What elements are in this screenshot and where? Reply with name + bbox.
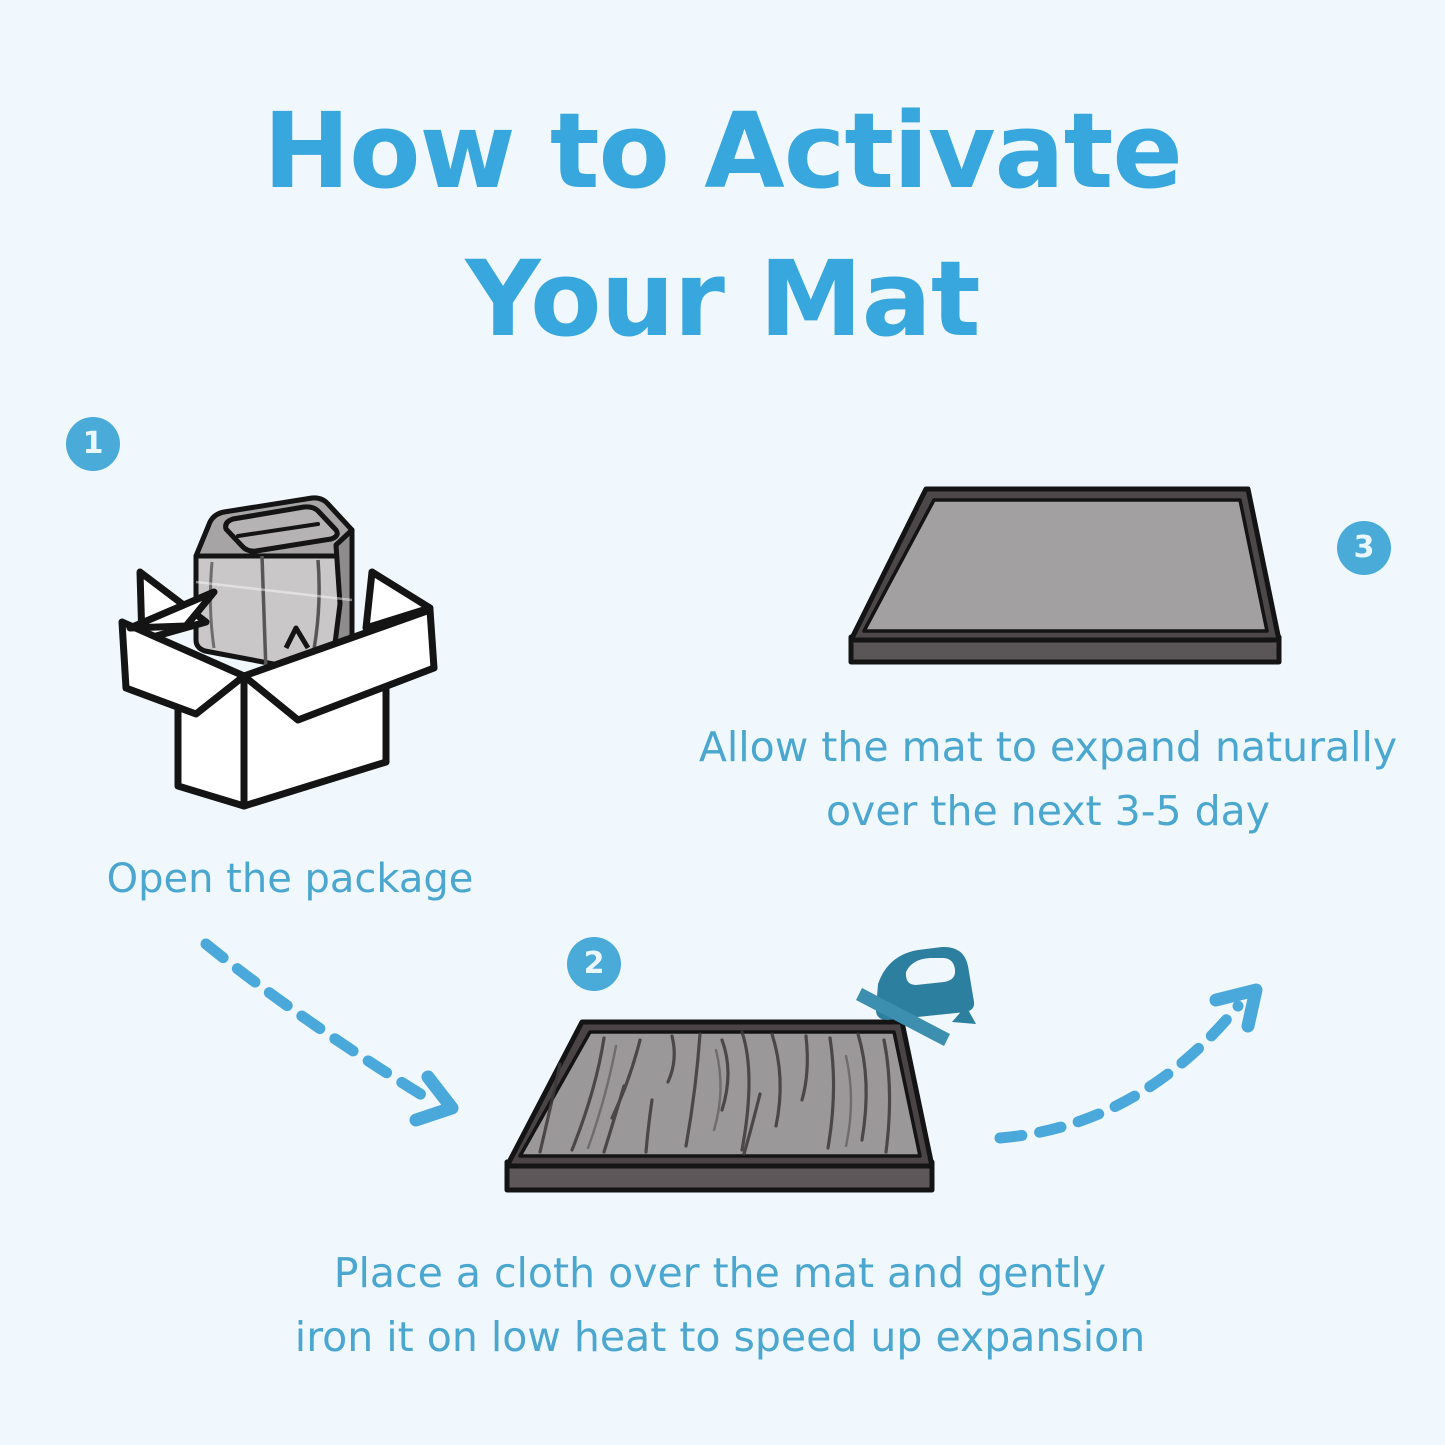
cloth-covered-mat-icon: [507, 1022, 932, 1190]
step-1-caption-line-1: Open the package: [40, 848, 540, 910]
step-badge-1[interactable]: 1: [66, 417, 120, 471]
step-3-caption-line-2: over the next 3-5 day: [672, 780, 1424, 844]
step-3-caption: Allow the mat to expand naturally over t…: [672, 716, 1424, 843]
dashed-curved-arrow-down-right-icon: [206, 944, 452, 1120]
step-1-caption: Open the package: [40, 848, 540, 910]
step-badge-3[interactable]: 3: [1337, 521, 1391, 575]
step-2-caption-line-2: iron it on low heat to speed up expansio…: [240, 1306, 1200, 1370]
step-badge-2[interactable]: 2: [567, 937, 621, 991]
step-2-caption-line-1: Place a cloth over the mat and gently: [240, 1242, 1200, 1306]
flat-mat-icon: [851, 489, 1279, 662]
step-2-caption: Place a cloth over the mat and gently ir…: [240, 1242, 1200, 1369]
infographic-canvas: How to Activate Your Mat: [0, 0, 1445, 1445]
dashed-curved-arrow-up-right-icon: [1000, 990, 1256, 1138]
step-3-caption-line-1: Allow the mat to expand naturally: [672, 716, 1424, 780]
